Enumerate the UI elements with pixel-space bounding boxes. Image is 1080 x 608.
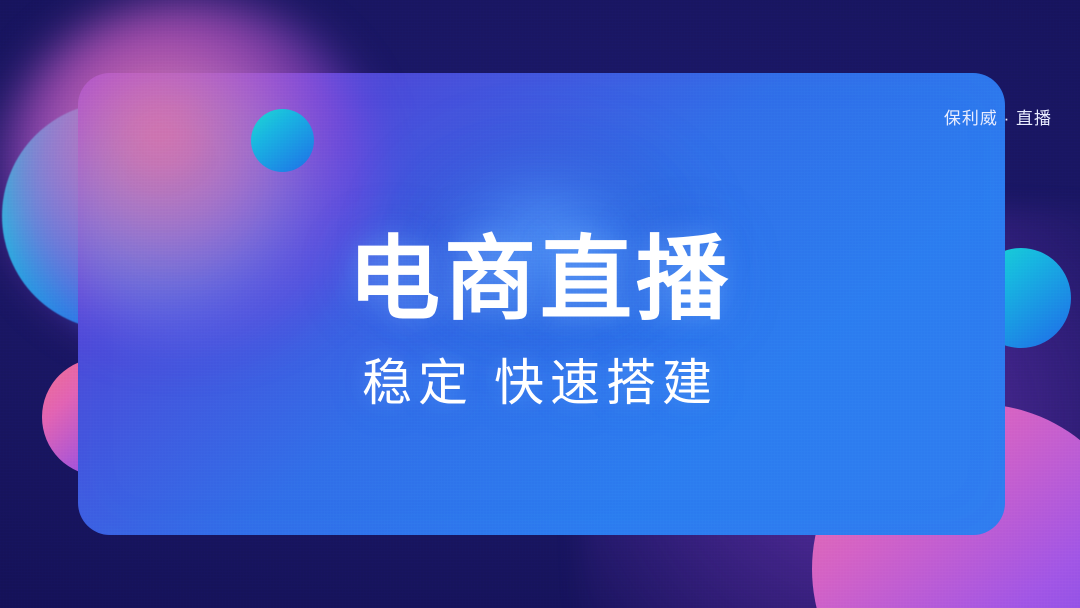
sphere-bottom-right-glow-icon — [0, 0, 380, 350]
sphere-small-top-icon — [251, 109, 314, 172]
brand-label: 保利威 · 直播 — [944, 104, 1052, 129]
slide-canvas: 保利威 · 直播 电商直播 稳定 快速搭建 — [0, 0, 1080, 608]
